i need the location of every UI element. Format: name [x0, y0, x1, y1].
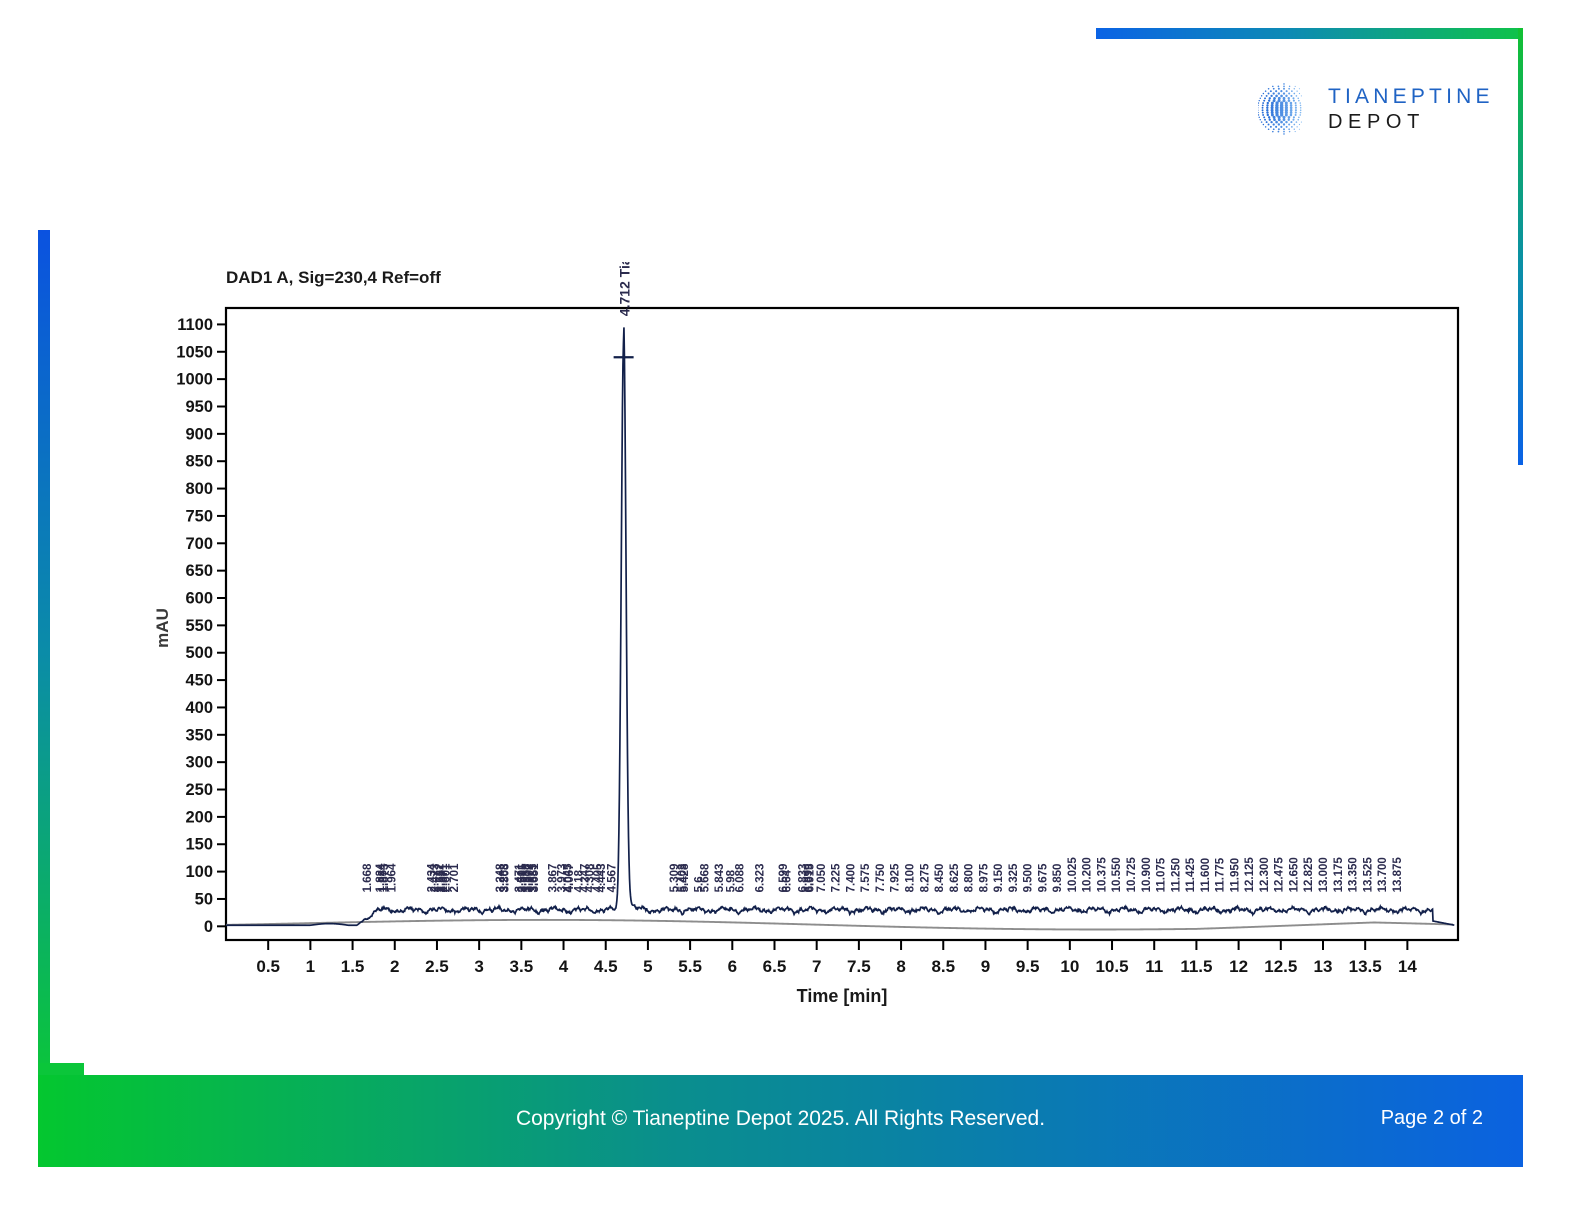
- peak-retention-label: 5.668: [699, 863, 711, 892]
- peak-retention-label: 6.088: [735, 863, 747, 892]
- chromatogram-plot: 0501001502002503003504004505005506006507…: [140, 262, 1480, 1022]
- y-axis-tick-label: 50: [195, 890, 213, 908]
- peak-retention-label: 11.250: [1170, 858, 1182, 893]
- chromatogram-chart: DAD1 A, Sig=230,4 Ref=off 05010015020025…: [140, 262, 1480, 1022]
- peak-retention-label: 13.700: [1377, 857, 1389, 892]
- x-axis-tick-label: 11.5: [1180, 957, 1212, 976]
- peak-retention-label: 8.975: [978, 863, 990, 892]
- x-axis-tick-label: 2.5: [425, 957, 449, 976]
- peak-retention-label: 12.650: [1288, 857, 1300, 892]
- peak-retention-label: 1.964: [387, 863, 399, 892]
- peak-retention-label: 9.850: [1052, 864, 1064, 893]
- peak-retention-label: 6.323: [755, 864, 767, 893]
- y-axis-tick-label: 750: [185, 507, 213, 525]
- peak-retention-label: 8.450: [934, 864, 946, 893]
- peak-retention-label: 11.950: [1229, 858, 1241, 893]
- peak-retention-label: 11.425: [1185, 857, 1197, 892]
- y-axis-tick-label: 250: [185, 781, 213, 799]
- decorative-top-bar: [1096, 28, 1520, 39]
- main-peak-label: 4.712 Tianeptine: [617, 262, 633, 316]
- x-axis-tick-label: 0.5: [256, 957, 280, 976]
- peak-retention-label: 12.125: [1244, 857, 1256, 893]
- x-axis-tick-label: 3.5: [510, 957, 534, 976]
- y-axis-tick-label: 400: [185, 699, 213, 717]
- peak-retention-label: 7.575: [860, 863, 872, 892]
- y-axis-title: mAU: [153, 608, 172, 648]
- x-axis-tick-label: 7.5: [847, 957, 871, 976]
- x-axis-tick-label: 1.5: [341, 957, 365, 976]
- peak-retention-label: 12.825: [1303, 857, 1315, 893]
- y-axis-tick-label: 950: [185, 398, 213, 416]
- peak-retention-label: 10.725: [1126, 857, 1138, 893]
- y-axis-tick-label: 650: [185, 562, 213, 580]
- peak-retention-label: 12.300: [1259, 857, 1271, 892]
- footer-page-number: Page 2 of 2: [1381, 1107, 1483, 1130]
- peak-retention-label: 6.64: [781, 869, 793, 892]
- y-axis-tick-label: 450: [185, 672, 213, 690]
- peak-retention-label: 6.915: [805, 863, 817, 892]
- x-axis-tick-label: 6: [728, 957, 737, 976]
- y-axis-tick-label: 1050: [176, 343, 213, 361]
- sphere-dots-logo-icon: [1258, 79, 1314, 139]
- plot-frame: [226, 308, 1458, 940]
- peak-retention-label: 13.875: [1392, 857, 1404, 893]
- x-axis-tick-label: 8: [896, 957, 905, 976]
- x-axis-tick-label: 6.5: [763, 957, 787, 976]
- peak-retention-label: 8.625: [949, 863, 961, 892]
- y-axis-tick-label: 500: [185, 644, 213, 662]
- peak-retention-label: 13.000: [1318, 857, 1330, 892]
- peak-retention-label: 13.350: [1348, 857, 1360, 892]
- peak-retention-label: 9.675: [1037, 863, 1049, 892]
- peak-retention-label: 7.400: [845, 864, 857, 893]
- brand-name-line2: DEPOT: [1328, 112, 1494, 132]
- peak-retention-label: 4.567: [606, 864, 618, 893]
- peak-retention-label: 12.475: [1274, 857, 1286, 893]
- peak-retention-label: 9.500: [1023, 864, 1035, 893]
- x-axis-tick-label: 10.5: [1095, 957, 1128, 976]
- x-axis-tick-label: 14: [1398, 957, 1417, 976]
- peak-retention-label: 9.150: [993, 864, 1005, 893]
- x-axis-tick-label: 1: [306, 957, 315, 976]
- peak-retention-label: 11.775: [1215, 857, 1227, 892]
- page-footer: Copyright © Tianeptine Depot 2025. All R…: [38, 1075, 1523, 1167]
- x-axis-tick-label: 2: [390, 957, 399, 976]
- peak-retention-label: 10.550: [1111, 857, 1123, 892]
- peak-retention-label: 7.050: [816, 864, 828, 893]
- y-axis-tick-label: 350: [185, 726, 213, 744]
- y-axis-tick-label: 800: [185, 480, 213, 498]
- peak-retention-label: 3.303: [500, 864, 512, 893]
- peak-retention-label: 11.075: [1156, 857, 1168, 892]
- brand-name: TIANEPTINE DEPOT: [1328, 86, 1494, 132]
- x-axis-tick-label: 12: [1229, 957, 1248, 976]
- brand-name-line1: TIANEPTINE: [1328, 86, 1494, 107]
- y-axis-tick-label: 200: [185, 808, 213, 826]
- x-axis-tick-label: 4.5: [594, 957, 618, 976]
- y-axis-tick-label: 900: [185, 425, 213, 443]
- y-axis-tick-label: 300: [185, 754, 213, 772]
- x-axis-tick-label: 13.5: [1349, 957, 1382, 976]
- y-axis-tick-label: 550: [185, 617, 213, 635]
- peak-retention-label: 13.525: [1362, 857, 1374, 893]
- x-axis-tick-label: 9: [981, 957, 990, 976]
- peak-retention-label: 10.025: [1067, 857, 1079, 893]
- peak-retention-label: 10.375: [1096, 857, 1108, 893]
- y-axis-tick-label: 700: [185, 535, 213, 553]
- peak-retention-label: 10.900: [1141, 857, 1153, 892]
- x-axis-tick-label: 5: [643, 957, 652, 976]
- peak-retention-label: 8.100: [905, 864, 917, 893]
- x-axis-tick-label: 13: [1314, 957, 1333, 976]
- peak-retention-label: 2.701: [449, 863, 461, 892]
- x-axis-tick-label: 7: [812, 957, 821, 976]
- footer-copyright: Copyright © Tianeptine Depot 2025. All R…: [38, 1107, 1523, 1131]
- peak-retention-label: 13.175: [1333, 857, 1345, 893]
- x-axis-tick-label: 4: [559, 957, 569, 976]
- peak-retention-label: 3.651: [529, 863, 541, 892]
- peak-retention-label: 7.225: [831, 863, 843, 892]
- peak-retention-label: 8.275: [919, 863, 931, 892]
- decorative-left-bar: [38, 230, 50, 1075]
- x-axis-tick-label: 5.5: [678, 957, 702, 976]
- brand-logo: TIANEPTINE DEPOT: [1258, 76, 1508, 142]
- peak-retention-label: 10.200: [1082, 857, 1094, 892]
- peak-retention-label: 1.668: [362, 863, 374, 892]
- y-axis-tick-label: 600: [185, 590, 213, 608]
- y-axis-tick-label: 100: [185, 863, 213, 881]
- decorative-left-foot: [38, 1063, 84, 1075]
- x-axis-tick-label: 8.5: [931, 957, 955, 976]
- x-axis-tick-label: 9.5: [1016, 957, 1040, 976]
- y-axis-tick-label: 850: [185, 453, 213, 471]
- decorative-right-bar: [1518, 28, 1523, 465]
- x-axis-tick-label: 3: [474, 957, 483, 976]
- peak-retention-label: 7.750: [875, 864, 887, 893]
- document-page: TIANEPTINE DEPOT DAD1 A, Sig=230,4 Ref=o…: [0, 0, 1584, 1224]
- peak-retention-label: 8.800: [964, 864, 976, 893]
- peak-retention-label: 5.843: [714, 864, 726, 893]
- peak-retention-label: 11.600: [1200, 858, 1212, 893]
- peak-retention-label: 5.428: [679, 863, 691, 892]
- peak-retention-label: 7.925: [890, 863, 902, 892]
- y-axis-tick-label: 1100: [177, 316, 213, 334]
- x-axis-title: Time [min]: [797, 986, 888, 1006]
- peak-retention-label: 9.325: [1008, 863, 1020, 892]
- y-axis-tick-label: 150: [185, 836, 213, 854]
- x-axis-tick-label: 10: [1060, 957, 1079, 976]
- x-axis-tick-label: 12.5: [1264, 957, 1297, 976]
- y-axis-tick-label: 0: [204, 918, 213, 936]
- x-axis-tick-label: 11: [1145, 957, 1163, 976]
- y-axis-tick-label: 1000: [176, 371, 213, 389]
